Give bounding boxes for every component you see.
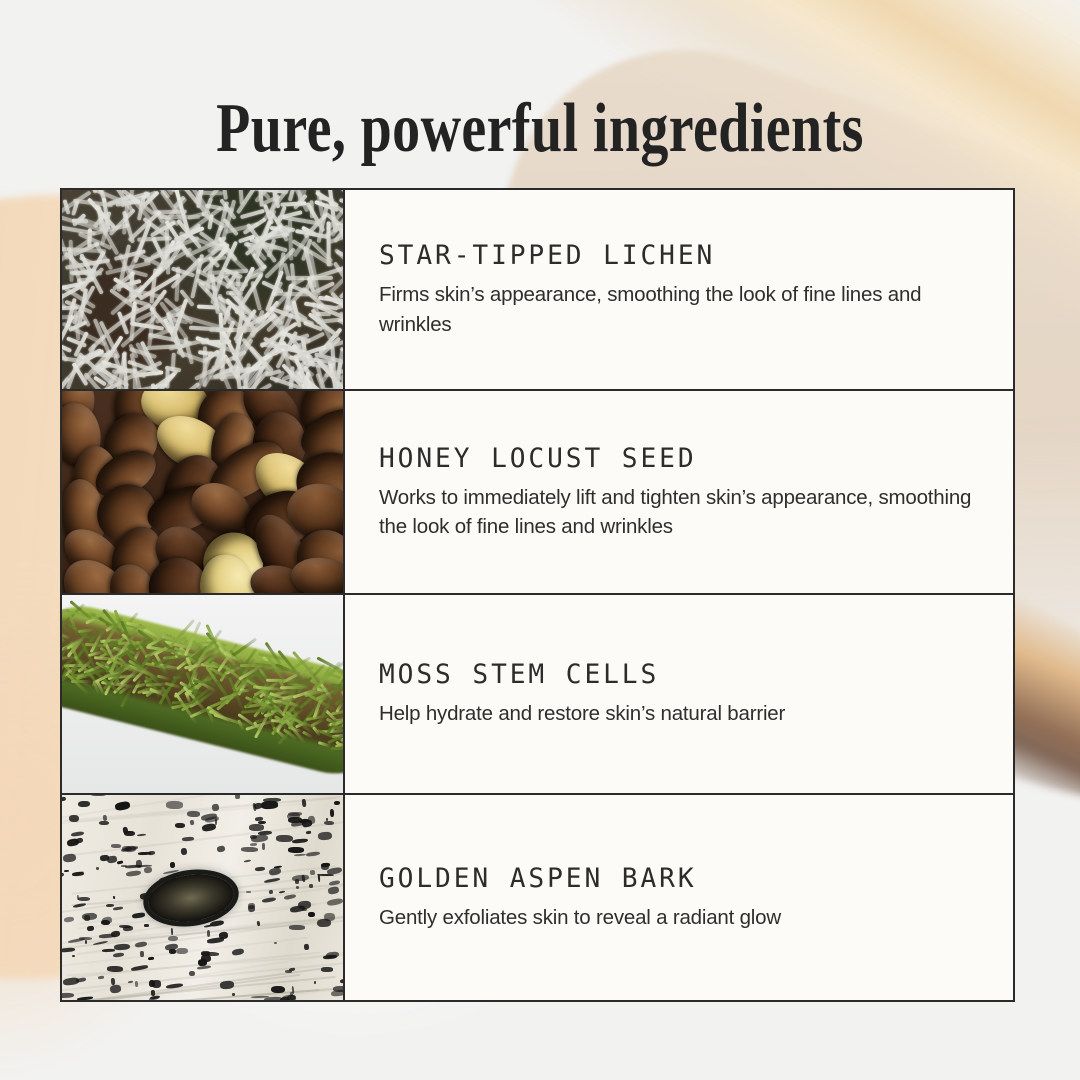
ingredient-description: Help hydrate and restore skin’s natural … [379, 699, 979, 728]
ingredient-description: Gently exfoliates skin to reveal a radia… [379, 903, 979, 932]
ingredient-row-moss-stem-cells: MOSS STEM CELLS Help hydrate and restore… [62, 595, 1013, 795]
ingredient-row-honey-locust-seed: HONEY LOCUST SEED Works to immediately l… [62, 391, 1013, 595]
star-tipped-lichen-photo [62, 190, 345, 389]
ingredient-name: GOLDEN ASPEN BARK [379, 863, 961, 894]
ingredients-table: STAR-TIPPED LICHEN Firms skin’s appearan… [60, 188, 1015, 1002]
ingredient-copy: STAR-TIPPED LICHEN Firms skin’s appearan… [345, 190, 1013, 389]
ingredient-row-golden-aspen-bark: GOLDEN ASPEN BARK Gently exfoliates skin… [62, 795, 1013, 1000]
honey-locust-seed-photo [62, 391, 345, 593]
page-title: Pure, powerful ingredients [108, 94, 972, 164]
ingredient-copy: MOSS STEM CELLS Help hydrate and restore… [345, 595, 1013, 793]
ingredient-name: MOSS STEM CELLS [379, 659, 961, 690]
ingredient-description: Works to immediately lift and tighten sk… [379, 483, 979, 541]
moss-stem-cells-photo [62, 595, 345, 793]
ingredient-name: HONEY LOCUST SEED [379, 443, 961, 474]
ingredient-row-star-tipped-lichen: STAR-TIPPED LICHEN Firms skin’s appearan… [62, 190, 1013, 391]
ingredient-copy: HONEY LOCUST SEED Works to immediately l… [345, 391, 1013, 593]
ingredient-name: STAR-TIPPED LICHEN [379, 240, 961, 271]
ingredient-copy: GOLDEN ASPEN BARK Gently exfoliates skin… [345, 795, 1013, 1000]
ingredient-description: Firms skin’s appearance, smoothing the l… [379, 280, 979, 338]
golden-aspen-bark-photo [62, 795, 345, 1000]
